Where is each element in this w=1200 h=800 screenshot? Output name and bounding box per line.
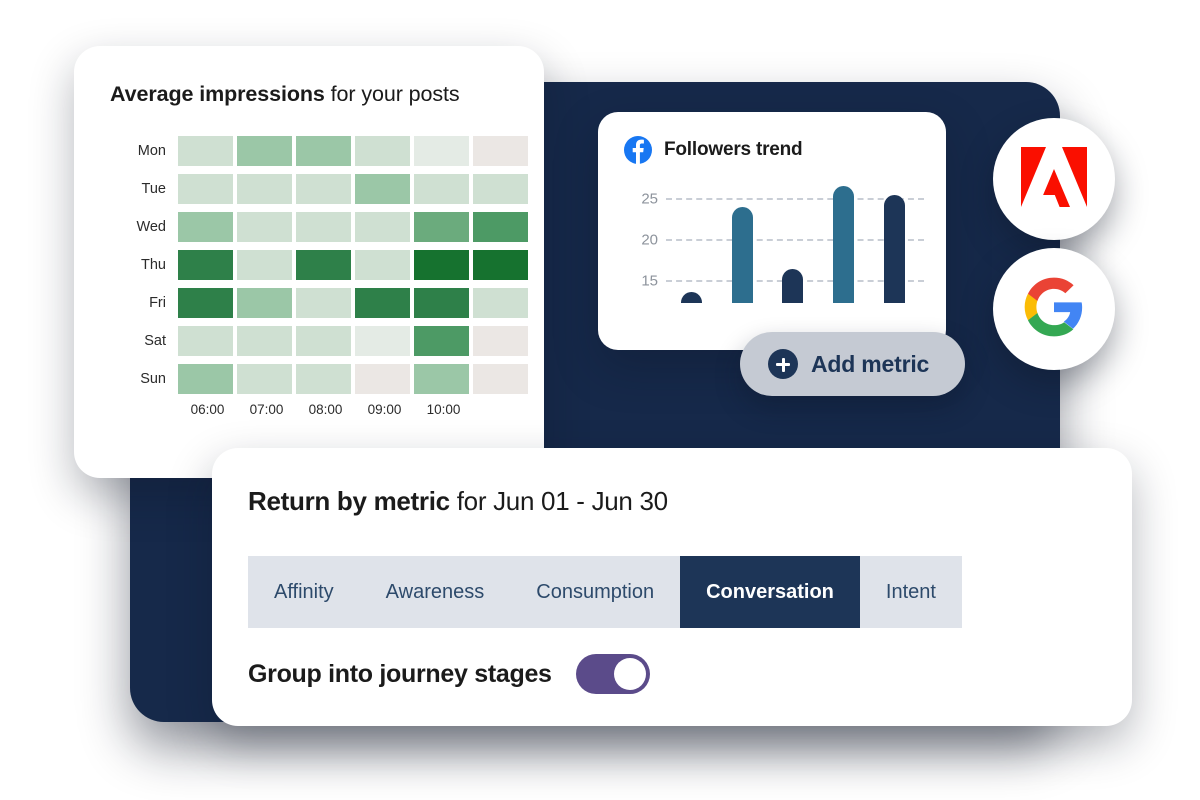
heatmap-row-cells [178,212,528,242]
heatmap-cell[interactable] [296,174,351,204]
bar-slot [869,195,920,303]
return-by-metric-card: Return by metric for Jun 01 - Jun 30 Aff… [212,448,1132,726]
heatmap-cell[interactable] [237,288,292,318]
heatmap-cell[interactable] [473,136,528,166]
heatmap-cell[interactable] [355,326,410,356]
group-journey-stages-label: Group into journey stages [248,660,552,689]
y-axis-tick-label: 20 [641,232,658,249]
metric-tab-bar: AffinityAwarenessConsumptionConversation… [248,556,962,628]
heatmap-cell[interactable] [296,212,351,242]
heatmap-cell[interactable] [414,364,469,394]
group-journey-stages-row: Group into journey stages [248,654,650,694]
tab-affinity[interactable]: Affinity [248,556,360,628]
bar-series [666,178,920,303]
heatmap-cell[interactable] [355,364,410,394]
heatmap-cell[interactable] [355,250,410,280]
tab-consumption[interactable]: Consumption [510,556,680,628]
heatmap-row: Tue [110,172,528,206]
average-impressions-card: Average impressions for your posts MonTu… [74,46,544,478]
toggle-knob [614,658,646,690]
return-card-title: Return by metric for Jun 01 - Jun 30 [248,486,668,517]
heatmap-row-cells [178,364,528,394]
followers-trend-card: Followers trend 252015 [598,112,946,350]
heatmap-cell[interactable] [237,364,292,394]
heatmap-row-cells [178,174,528,204]
heatmap-cell[interactable] [178,212,233,242]
heatmap-cell[interactable] [237,174,292,204]
heatmap-row: Fri [110,286,528,320]
facebook-icon [624,136,652,164]
heatmap-cell[interactable] [355,136,410,166]
bar-slot [666,292,717,303]
google-logo-badge[interactable] [993,248,1115,370]
heatmap-x-tick: 10:00 [414,402,473,417]
followers-trend-title: Followers trend [664,139,802,161]
heatmap-cell[interactable] [414,174,469,204]
tab-conversation[interactable]: Conversation [680,556,860,628]
heatmap-row-cells [178,136,528,166]
heatmap-cell[interactable] [296,136,351,166]
heatmap-cell[interactable] [414,288,469,318]
heatmap-cell[interactable] [355,174,410,204]
heatmap-x-tick: 08:00 [296,402,355,417]
heatmap-row-label: Tue [110,181,178,197]
heatmap-row-cells [178,288,528,318]
bar-slot [717,207,768,303]
heatmap-cell[interactable] [473,250,528,280]
heatmap-row: Mon [110,134,528,168]
heatmap-cell[interactable] [178,250,233,280]
adobe-logo-icon [1021,147,1087,212]
heatmap-cell[interactable] [237,250,292,280]
heatmap-cell[interactable] [473,364,528,394]
heatmap-row: Thu [110,248,528,282]
heatmap-cell[interactable] [414,212,469,242]
google-logo-icon [1022,275,1086,344]
heatmap-x-tick: 09:00 [355,402,414,417]
heatmap-cell[interactable] [178,326,233,356]
heatmap-cell[interactable] [178,288,233,318]
heatmap-row-label: Sat [110,333,178,349]
heatmap-row-label: Thu [110,257,178,273]
adobe-logo-badge[interactable] [993,118,1115,240]
heatmap-cell[interactable] [473,212,528,242]
followers-trend-header: Followers trend [624,136,802,164]
tab-intent[interactable]: Intent [860,556,962,628]
heatmap-cell[interactable] [296,364,351,394]
add-metric-button[interactable]: Add metric [740,332,965,396]
heatmap-cell[interactable] [178,174,233,204]
heatmap-title-bold: Average impressions [110,82,325,106]
group-journey-stages-toggle[interactable] [576,654,650,694]
y-axis-tick-label: 15 [641,273,658,290]
bar[interactable] [833,186,854,303]
heatmap-cell[interactable] [178,136,233,166]
heatmap-row: Sun [110,362,528,396]
heatmap-cell[interactable] [296,250,351,280]
bar[interactable] [681,292,702,303]
heatmap-cell[interactable] [473,288,528,318]
heatmap-cell[interactable] [237,326,292,356]
bar-slot [818,186,869,303]
return-title-rest: for Jun 01 - Jun 30 [450,486,668,516]
add-metric-label: Add metric [811,351,929,378]
heatmap-row-label: Wed [110,219,178,235]
heatmap-title-rest: for your posts [325,82,460,106]
bar[interactable] [782,269,803,303]
heatmap-row-cells [178,250,528,280]
heatmap-x-tick: 07:00 [237,402,296,417]
bar-slot [768,269,819,303]
heatmap-cell[interactable] [296,288,351,318]
heatmap-cell[interactable] [296,326,351,356]
bar[interactable] [884,195,905,303]
heatmap-x-axis: 06:0007:0008:0009:0010:00 [178,402,528,417]
heatmap-cell[interactable] [414,250,469,280]
heatmap-row: Sat [110,324,528,358]
plus-circle-icon [768,349,798,379]
heatmap-row-label: Fri [110,295,178,311]
heatmap-cell[interactable] [414,326,469,356]
heatmap-row: Wed [110,210,528,244]
heatmap-cell[interactable] [355,288,410,318]
bar[interactable] [732,207,753,303]
heatmap-card-title: Average impressions for your posts [110,82,460,107]
heatmap-row-cells [178,326,528,356]
heatmap-cell[interactable] [178,364,233,394]
heatmap-cell[interactable] [473,326,528,356]
heatmap-cell[interactable] [355,212,410,242]
heatmap-row-label: Sun [110,371,178,387]
return-title-bold: Return by metric [248,486,450,516]
heatmap-grid: MonTueWedThuFriSatSun06:0007:0008:0009:0… [110,134,528,417]
y-axis-tick-label: 25 [641,190,658,207]
tab-awareness[interactable]: Awareness [360,556,511,628]
heatmap-row-label: Mon [110,143,178,159]
screenshot-root: Average impressions for your posts MonTu… [0,0,1200,800]
heatmap-cell[interactable] [237,212,292,242]
heatmap-cell[interactable] [237,136,292,166]
heatmap-cell[interactable] [414,136,469,166]
heatmap-cell[interactable] [473,174,528,204]
y-axis-labels: 252015 [624,178,658,303]
followers-trend-plot: 252015 [624,178,924,333]
heatmap-x-tick: 06:00 [178,402,237,417]
